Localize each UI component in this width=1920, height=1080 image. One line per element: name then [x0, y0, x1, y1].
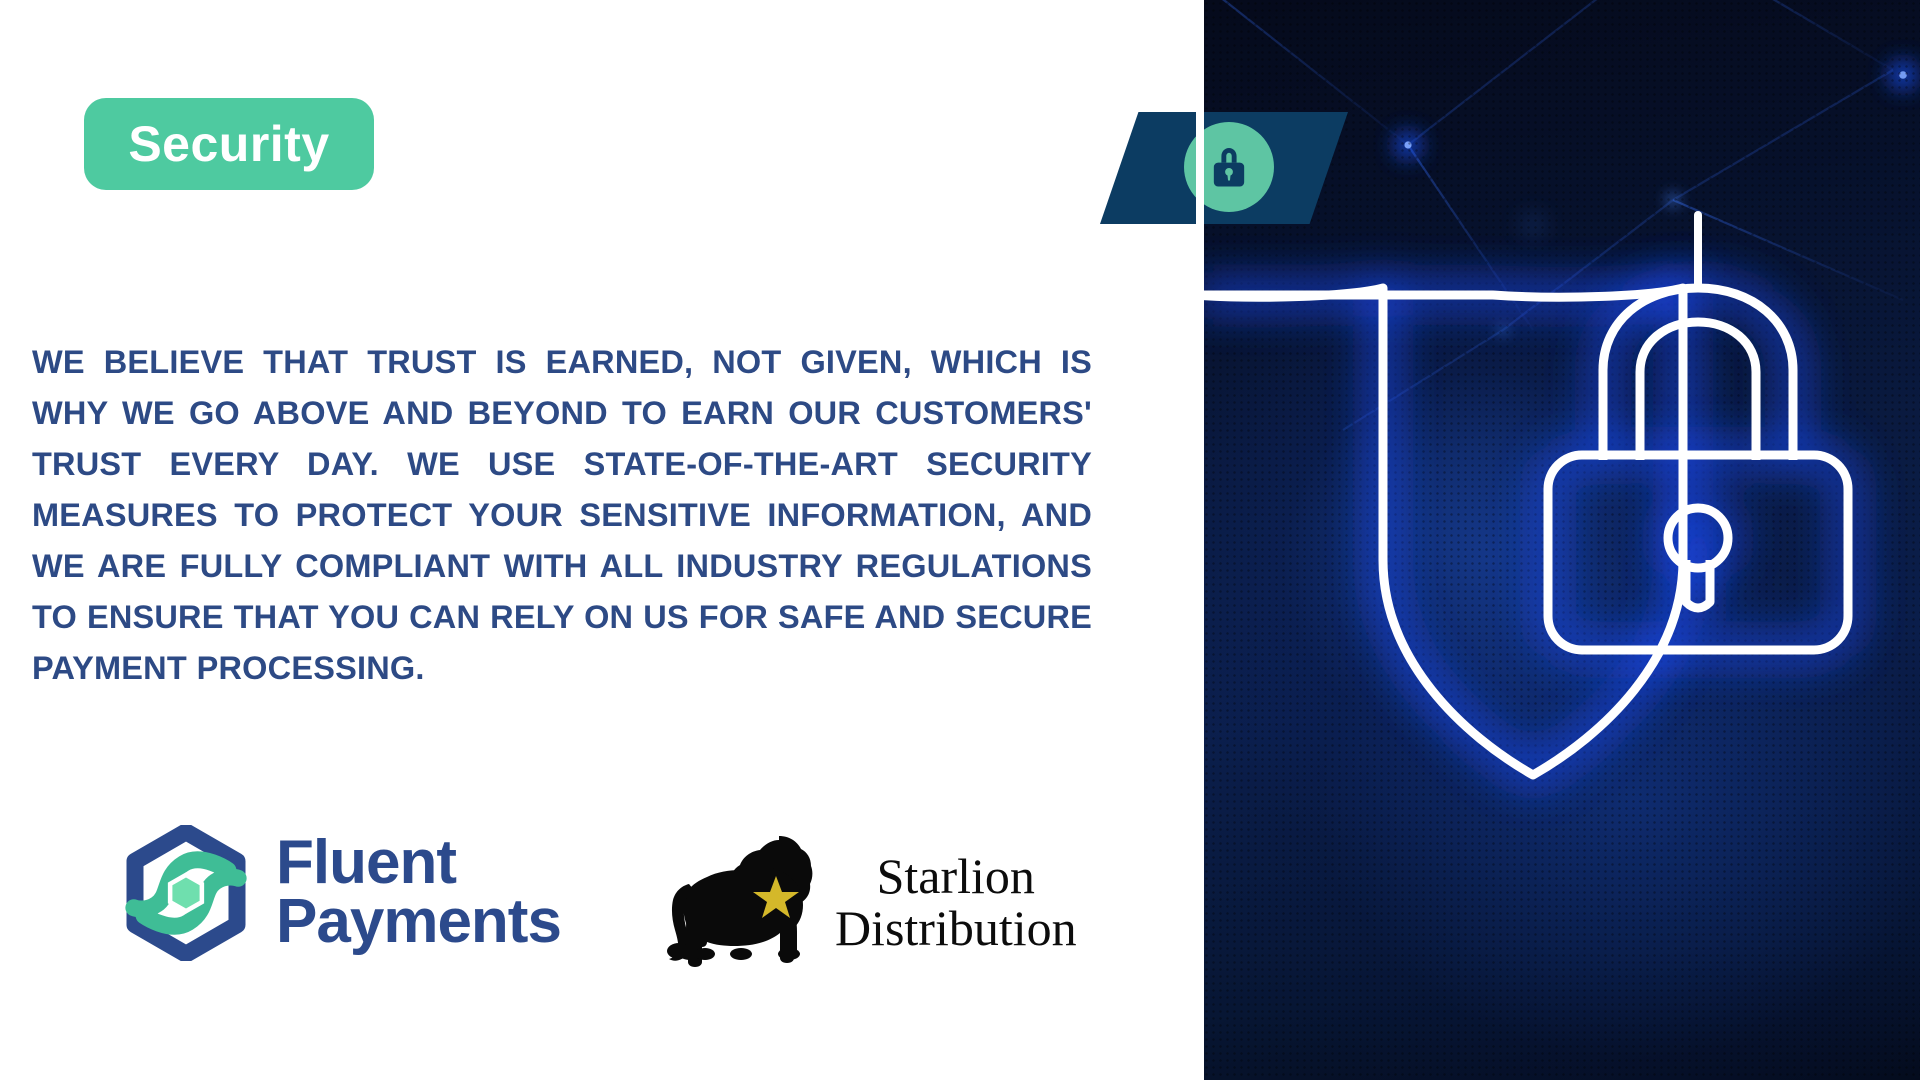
- left-content-column: Security WE BELIEVE THAT TRUST IS EARNED…: [0, 0, 1203, 1080]
- fluent-payments-logo: Fluent Payments: [118, 825, 561, 961]
- security-slide: Security WE BELIEVE THAT TRUST IS EARNED…: [0, 0, 1920, 1080]
- padlock-icon: [1203, 141, 1255, 193]
- fluent-line-2: Payments: [276, 893, 561, 952]
- hexagon-swirl-icon: [118, 825, 254, 961]
- lion-silhouette-icon: [629, 818, 829, 968]
- fluent-line-1: Fluent: [276, 834, 561, 893]
- starlion-wordmark: Starlion Distribution: [835, 850, 1077, 954]
- starlion-distribution-logo: Starlion Distribution: [629, 818, 1077, 968]
- partner-logo-row: Fluent Payments: [118, 818, 1077, 968]
- starlion-line-2: Distribution: [835, 902, 1077, 954]
- body-paragraph: WE BELIEVE THAT TRUST IS EARNED, NOT GIV…: [32, 337, 1092, 694]
- starlion-line-1: Starlion: [877, 850, 1035, 902]
- panel-divider: [1196, 0, 1204, 1080]
- section-badge-label: Security: [128, 119, 329, 169]
- fluent-payments-wordmark: Fluent Payments: [276, 834, 561, 952]
- section-badge: Security: [84, 98, 374, 190]
